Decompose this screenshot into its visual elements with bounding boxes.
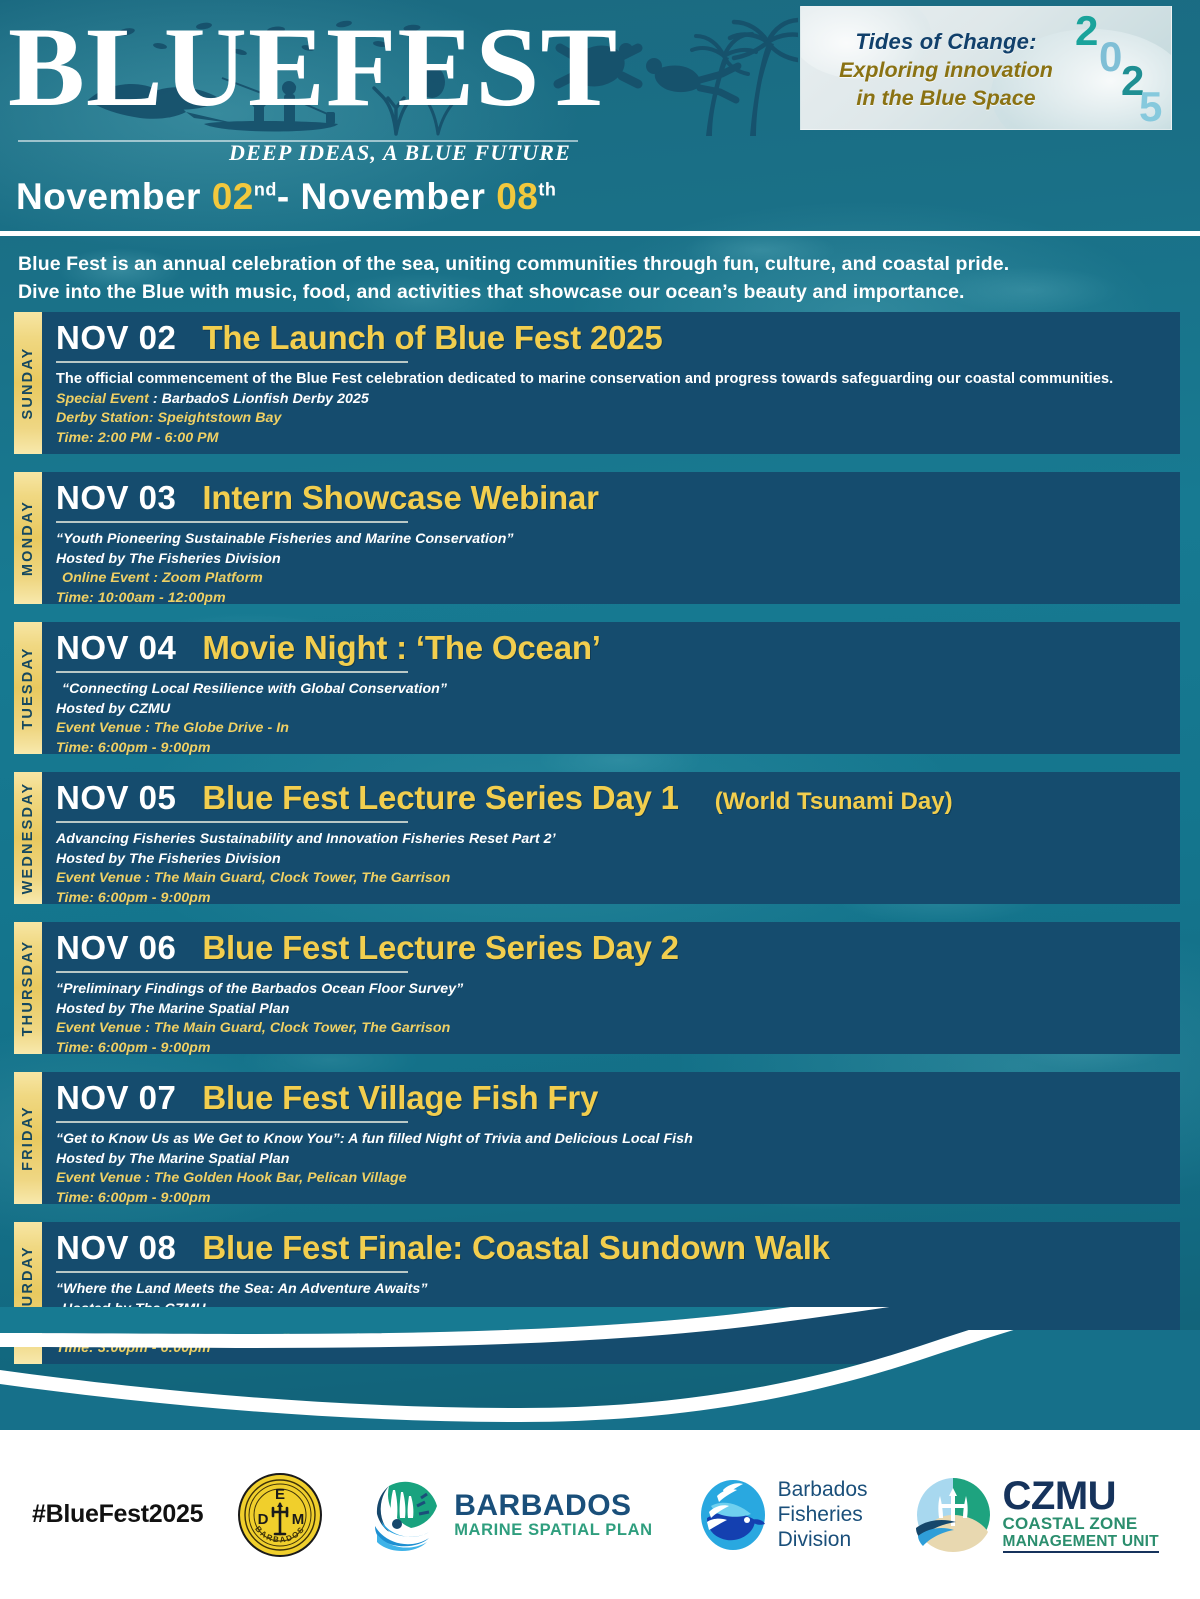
czmu-acronym: CZMU — [1003, 1477, 1159, 1515]
event-card-body: NOV 07 Blue Fest Village Fish Fry “Get t… — [42, 1072, 1180, 1204]
event-date: NOV 02 — [56, 319, 176, 357]
event-card[interactable]: SUNDAY NOV 02 The Launch of Blue Fest 20… — [14, 312, 1180, 454]
event-special-label: Special Event — [56, 391, 149, 407]
event-time: Time: 6:00pm - 9:00pm — [56, 889, 1166, 909]
event-time: Time: 6:00pm - 9:00pm — [56, 1039, 1166, 1059]
day-tab: THURSDAY — [14, 922, 42, 1054]
date-month-2: November — [301, 176, 486, 217]
event-header-underline — [56, 671, 408, 673]
event-time: Time: 6:00pm - 9:00pm — [56, 739, 1166, 759]
event-card-body: NOV 03 Intern Showcase Webinar “Youth Pi… — [42, 472, 1180, 604]
svg-text:M: M — [292, 1511, 305, 1528]
theme-line-1: Tides of Change: — [811, 29, 1081, 55]
day-tab: WEDNESDAY — [14, 772, 42, 904]
poster-header: BLUEFEST DEEP IDEAS, A BLUE FUTURE Tides… — [0, 0, 1200, 165]
fisheries-logo-text: Barbados Fisheries Division — [778, 1477, 868, 1552]
event-host: Hosted by The Marine Spatial Plan — [56, 1000, 1166, 1020]
event-venue: Event Venue : The Main Guard, Clock Towe… — [56, 1019, 1166, 1039]
event-header-underline — [56, 1121, 408, 1123]
czmu-line-1: COASTAL ZONE — [1003, 1515, 1159, 1533]
date-day-2: 08 — [496, 176, 538, 217]
day-tab-label: MONDAY — [20, 500, 36, 576]
day-tab-label: THURSDAY — [20, 940, 36, 1037]
event-detail-lines: “Youth Pioneering Sustainable Fisheries … — [56, 530, 1166, 608]
event-card-header: NOV 05 Blue Fest Lecture Series Day 1 (W… — [56, 779, 1166, 817]
event-venue: Event Venue : The Globe Drive - In — [56, 719, 1166, 739]
event-card-header: NOV 03 Intern Showcase Webinar — [56, 479, 1166, 517]
bluefest-logo: BLUEFEST — [8, 8, 798, 136]
fisheries-line-1: Barbados — [778, 1477, 868, 1502]
event-detail-lines: “Get to Know Us as We Get to Know You”: … — [56, 1130, 1166, 1208]
event-host: Hosted by CZMU — [56, 700, 1166, 720]
event-card-header: NOV 06 Blue Fest Lecture Series Day 2 — [56, 929, 1166, 967]
logo-subtitle: DEEP IDEAS, A BLUE FUTURE — [0, 140, 800, 166]
event-title: Blue Fest Lecture Series Day 2 — [202, 929, 678, 967]
event-card-body: NOV 05 Blue Fest Lecture Series Day 1 (W… — [42, 772, 1180, 904]
bluefest-poster: BLUEFEST DEEP IDEAS, A BLUE FUTURE Tides… — [0, 0, 1200, 1599]
event-header-underline — [56, 1271, 408, 1273]
dem-seal-icon: E D M BARBADOS — [237, 1472, 323, 1558]
intro-line-2: Dive into the Blue with music, food, and… — [18, 278, 1178, 306]
czmu-trident-icon — [912, 1474, 994, 1556]
event-header-underline — [56, 971, 408, 973]
event-title: Blue Fest Lecture Series Day 1 — [202, 779, 678, 817]
date-separator: - — [277, 176, 290, 217]
event-description: The official commencement of the Blue Fe… — [56, 370, 1166, 390]
event-host: Hosted by The Fisheries Division — [56, 850, 1166, 870]
event-quote: “Get to Know Us as We Get to Know You”: … — [56, 1130, 1166, 1150]
svg-text:2: 2 — [1075, 11, 1098, 54]
event-venue: Event Venue : The Main Guard, Clock Towe… — [56, 869, 1166, 889]
dem-barbados-logo: E D M BARBADOS — [237, 1472, 323, 1558]
day-tab: FRIDAY — [14, 1072, 42, 1204]
date-month-1: November — [16, 176, 201, 217]
poster-footer: #BlueFest2025 E D M — [0, 1430, 1200, 1599]
barbados-fisheries-division-logo: Barbados Fisheries Division — [697, 1476, 868, 1554]
event-header-underline — [56, 521, 408, 523]
event-quote: “Where the Land Meets the Sea: An Advent… — [56, 1280, 1166, 1300]
event-card[interactable]: THURSDAY NOV 06 Blue Fest Lecture Series… — [14, 922, 1180, 1054]
event-venue: Online Event : Zoom Platform — [56, 569, 1166, 589]
msp-subtitle: MARINE SPATIAL PLAN — [454, 1521, 652, 1539]
day-tab-label: TUESDAY — [20, 646, 36, 729]
event-card[interactable]: FRIDAY NOV 07 Blue Fest Village Fish Fry… — [14, 1072, 1180, 1204]
czmu-line-2: MANAGEMENT UNIT — [1003, 1533, 1159, 1553]
czmu-logo-text: CZMU COASTAL ZONE MANAGEMENT UNIT — [1003, 1477, 1159, 1553]
event-title: Intern Showcase Webinar — [202, 479, 598, 517]
event-title: Blue Fest Finale: Coastal Sundown Walk — [202, 1229, 829, 1267]
event-header-underline — [56, 361, 408, 363]
date-range-bar: November 02nd- November 08th — [0, 166, 1200, 228]
date-range-text: November 02nd- November 08th — [16, 176, 556, 218]
fisheries-line-2: Fisheries — [778, 1502, 868, 1527]
event-card-header: NOV 04 Movie Night : ‘The Ocean’ — [56, 629, 1166, 667]
event-card[interactable]: WEDNESDAY NOV 05 Blue Fest Lecture Serie… — [14, 772, 1180, 904]
day-tab-label: SUNDAY — [20, 346, 36, 419]
event-title-suffix: (World Tsunami Day) — [715, 788, 953, 816]
year-2025-graphic: 2 0 2 5 — [1069, 11, 1165, 127]
event-card-body: NOV 06 Blue Fest Lecture Series Day 2 “P… — [42, 922, 1180, 1054]
event-card-body: NOV 04 Movie Night : ‘The Ocean’ “Connec… — [42, 622, 1180, 754]
day-tab: SUNDAY — [14, 312, 42, 454]
event-time: Time: 10:00am - 12:00pm — [56, 589, 1166, 609]
sponsor-logo-row: E D M BARBADOS — [237, 1472, 1159, 1558]
fisheries-flyingfish-icon — [697, 1476, 769, 1554]
intro-line-1: Blue Fest is an annual celebration of th… — [18, 250, 1178, 278]
theme-banner: Tides of Change: Exploring innovation in… — [800, 6, 1172, 130]
msp-globe-wave-icon — [367, 1476, 445, 1554]
event-date: NOV 05 — [56, 779, 176, 817]
event-time: Time: 2:00 PM - 6:00 PM — [56, 429, 1166, 449]
event-card-header: NOV 02 The Launch of Blue Fest 2025 — [56, 319, 1166, 357]
day-tab-label: FRIDAY — [20, 1105, 36, 1171]
event-date: NOV 08 — [56, 1229, 176, 1267]
event-detail-lines: The official commencement of the Blue Fe… — [56, 370, 1166, 448]
day-tab-label: WEDNESDAY — [20, 782, 36, 895]
event-special-line: Special Event : BarbadoS Lionfish Derby … — [56, 390, 1166, 410]
event-venue: Event Venue : The Golden Hook Bar, Pelic… — [56, 1169, 1166, 1189]
event-quote: “Youth Pioneering Sustainable Fisheries … — [56, 530, 1166, 550]
date-day-2-suffix: th — [538, 180, 556, 200]
event-time: Time: 6:00pm - 9:00pm — [56, 1189, 1166, 1209]
event-date: NOV 06 — [56, 929, 176, 967]
day-tab: TUESDAY — [14, 622, 42, 754]
date-day-1: 02 — [212, 176, 254, 217]
czmu-logo: CZMU COASTAL ZONE MANAGEMENT UNIT — [912, 1474, 1159, 1556]
hashtag: #BlueFest2025 — [32, 1500, 203, 1529]
event-card-header: NOV 08 Blue Fest Finale: Coastal Sundown… — [56, 1229, 1166, 1267]
theme-line-3: in the Blue Space — [811, 85, 1081, 111]
intro-paragraph: Blue Fest is an annual celebration of th… — [18, 250, 1178, 306]
msp-logo-text: BARBADOS MARINE SPATIAL PLAN — [454, 1491, 652, 1539]
event-detail-lines: “Preliminary Findings of the Barbados Oc… — [56, 980, 1166, 1058]
event-host: Hosted by The Fisheries Division — [56, 550, 1166, 570]
fisheries-line-3: Division — [778, 1527, 868, 1552]
day-tab: MONDAY — [14, 472, 42, 604]
event-header-underline — [56, 821, 408, 823]
msp-name: BARBADOS — [454, 1491, 652, 1521]
event-special-value: : BarbadoS Lionfish Derby 2025 — [149, 391, 369, 407]
event-detail-lines: Advancing Fisheries Sustainability and I… — [56, 830, 1166, 908]
event-venue: Derby Station: Speightstown Bay — [56, 409, 1166, 429]
event-date: NOV 03 — [56, 479, 176, 517]
event-schedule-list: SUNDAY NOV 02 The Launch of Blue Fest 20… — [14, 312, 1180, 1382]
event-date: NOV 07 — [56, 1079, 176, 1117]
event-title: The Launch of Blue Fest 2025 — [202, 319, 662, 357]
event-card-body: NOV 02 The Launch of Blue Fest 2025 The … — [42, 312, 1180, 454]
date-day-1-suffix: nd — [254, 180, 277, 200]
event-quote: “Connecting Local Resilience with Global… — [56, 680, 1166, 700]
theme-text-block: Tides of Change: Exploring innovation in… — [811, 29, 1081, 111]
theme-line-2: Exploring innovation — [811, 57, 1081, 83]
event-title: Blue Fest Village Fish Fry — [202, 1079, 598, 1117]
barbados-marine-spatial-plan-logo: BARBADOS MARINE SPATIAL PLAN — [367, 1476, 652, 1554]
svg-text:E: E — [275, 1486, 285, 1503]
event-date: NOV 04 — [56, 629, 176, 667]
date-bar-divider — [0, 231, 1200, 236]
event-detail-lines: “Connecting Local Resilience with Global… — [56, 680, 1166, 758]
event-card[interactable]: MONDAY NOV 03 Intern Showcase Webinar “Y… — [14, 472, 1180, 604]
svg-text:0: 0 — [1099, 33, 1122, 80]
event-card[interactable]: TUESDAY NOV 04 Movie Night : ‘The Ocean’… — [14, 622, 1180, 754]
event-card-header: NOV 07 Blue Fest Village Fish Fry — [56, 1079, 1166, 1117]
event-host: Hosted by The Marine Spatial Plan — [56, 1150, 1166, 1170]
event-quote: Advancing Fisheries Sustainability and I… — [56, 830, 1166, 850]
svg-text:5: 5 — [1139, 83, 1162, 127]
logo-wordmark: BLUEFEST — [8, 4, 814, 132]
event-quote: “Preliminary Findings of the Barbados Oc… — [56, 980, 1166, 1000]
event-title: Movie Night : ‘The Ocean’ — [202, 629, 600, 667]
